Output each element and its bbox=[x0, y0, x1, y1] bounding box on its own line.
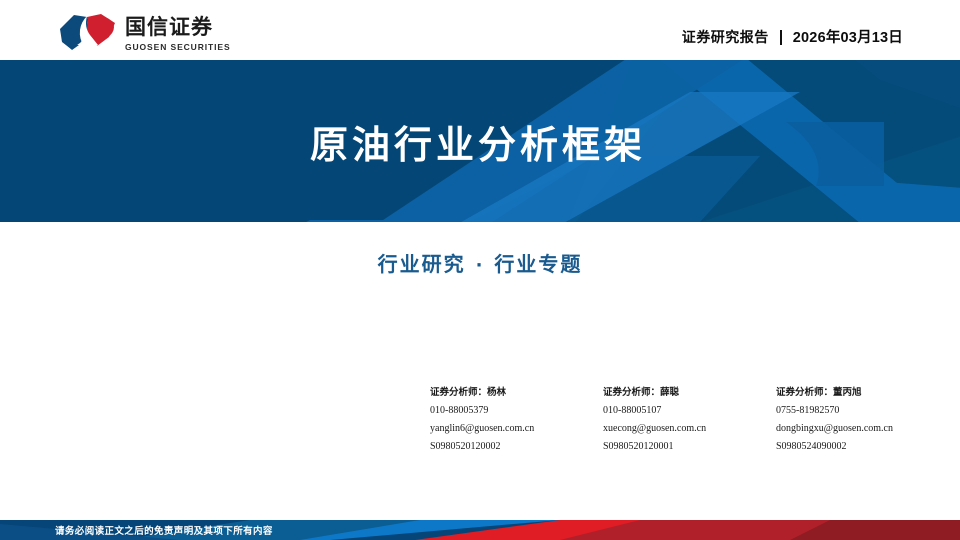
page-title: 原油行业分析框架 bbox=[310, 114, 650, 169]
analyst-email[interactable]: xuecong@guosen.com.cn bbox=[603, 420, 776, 438]
brand-logo: 国信证券 GUOSEN SECURITIES bbox=[57, 13, 231, 55]
analyst-card: 证券分析师：董丙旭 0755-81982570 dongbingxu@guose… bbox=[776, 384, 936, 456]
analyst-phone: 010-88005379 bbox=[430, 402, 603, 420]
analyst-list: 证券分析师：杨林 010-88005379 yanglin6@guosen.co… bbox=[430, 384, 930, 456]
hero-title-wrap: 原油行业分析框架 bbox=[0, 60, 960, 222]
subtitle-category: 行业研究 bbox=[378, 252, 466, 276]
analyst-card: 证券分析师：杨林 010-88005379 yanglin6@guosen.co… bbox=[430, 384, 603, 456]
analyst-phone: 010-88005107 bbox=[603, 402, 776, 420]
guosen-logo-mark-icon bbox=[57, 13, 119, 55]
analyst-name: 证券分析师：薛聪 bbox=[603, 384, 776, 402]
analyst-license: S0980524090002 bbox=[776, 438, 936, 456]
disclaimer-text: 请务必阅读正文之后的免责声明及其项下所有内容 bbox=[55, 523, 273, 537]
hero-banner: 原油行业分析框架 bbox=[0, 60, 960, 222]
subtitle-row: 行业研究·行业专题 bbox=[0, 248, 960, 277]
footer-text-wrap: 请务必阅读正文之后的免责声明及其项下所有内容 bbox=[55, 520, 273, 540]
page-header: 国信证券 GUOSEN SECURITIES 证券研究报告 2026年03月13… bbox=[0, 0, 960, 60]
analyst-license: S0980520120001 bbox=[603, 438, 776, 456]
analyst-license: S0980520120002 bbox=[430, 438, 603, 456]
header-divider bbox=[780, 30, 782, 45]
analyst-email[interactable]: yanglin6@guosen.com.cn bbox=[430, 420, 603, 438]
report-cover-page: 国信证券 GUOSEN SECURITIES 证券研究报告 2026年03月13… bbox=[0, 0, 960, 540]
report-date: 2026年03月13日 bbox=[793, 26, 903, 47]
report-type-label: 证券研究报告 bbox=[682, 27, 769, 47]
subtitle-topic: 行业专题 bbox=[494, 252, 582, 276]
brand-name-cn: 国信证券 bbox=[125, 15, 231, 39]
analyst-name: 证券分析师：董丙旭 bbox=[776, 384, 936, 402]
analyst-email[interactable]: dongbingxu@guosen.com.cn bbox=[776, 420, 936, 438]
header-meta: 证券研究报告 2026年03月13日 bbox=[682, 26, 903, 47]
subtitle-separator: · bbox=[466, 255, 495, 276]
brand-text: 国信证券 GUOSEN SECURITIES bbox=[125, 13, 231, 53]
brand-name-en: GUOSEN SECURITIES bbox=[125, 41, 231, 53]
analyst-card: 证券分析师：薛聪 010-88005107 xuecong@guosen.com… bbox=[603, 384, 776, 456]
analyst-name: 证券分析师：杨林 bbox=[430, 384, 603, 402]
page-footer: 请务必阅读正文之后的免责声明及其项下所有内容 bbox=[0, 520, 960, 540]
analyst-phone: 0755-81982570 bbox=[776, 402, 936, 420]
